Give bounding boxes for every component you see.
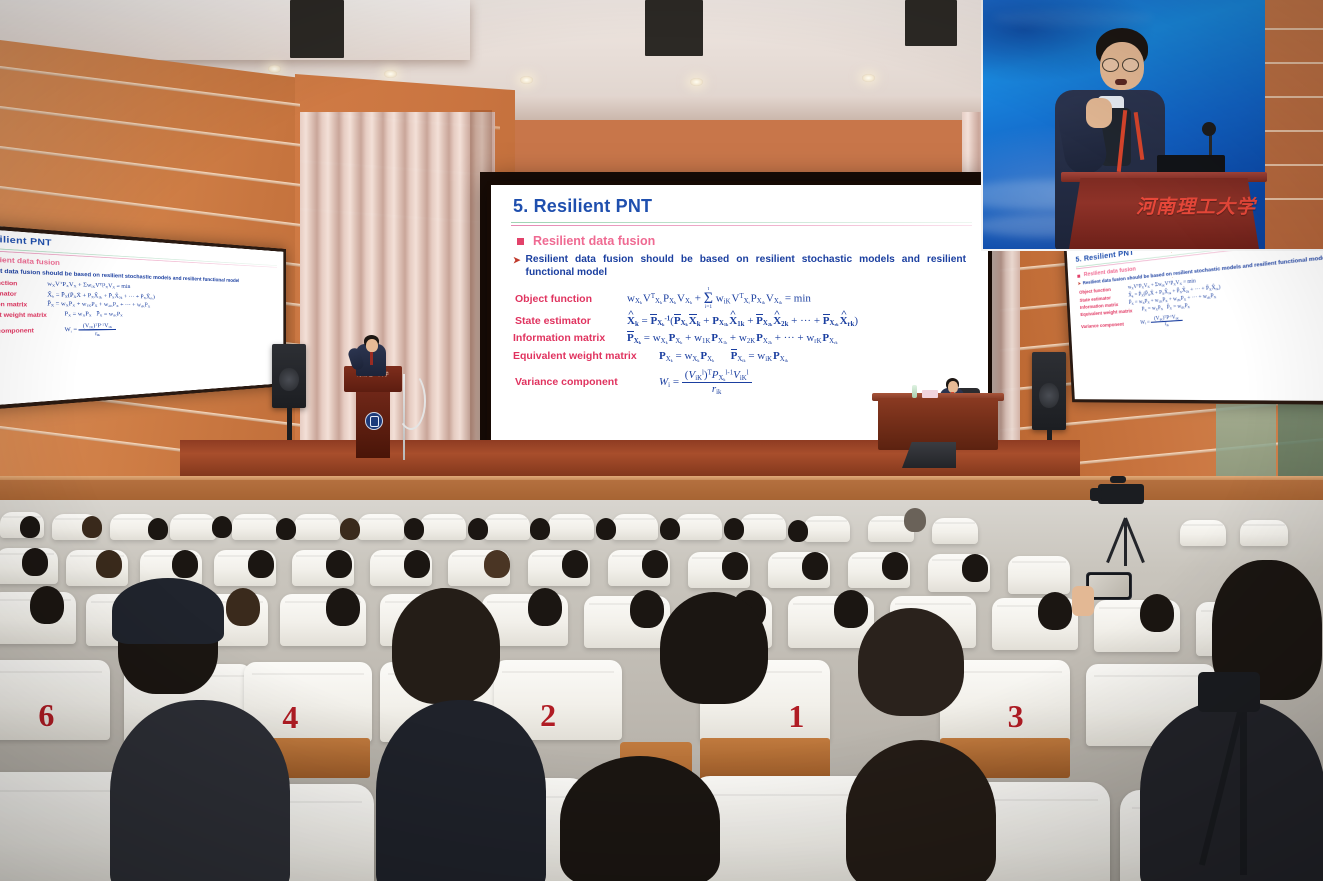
cap-on-head bbox=[112, 578, 224, 644]
hand-holding-phone bbox=[1072, 586, 1094, 616]
pip-speaker-hand bbox=[1086, 98, 1112, 128]
audience-head bbox=[962, 554, 988, 582]
formula-expression: P̄X = wXPX + w1KPX + w2KPX + ··· + wrKPX bbox=[47, 301, 150, 309]
statement-text: Resilient data fusion should be based on… bbox=[526, 254, 966, 280]
audience-head bbox=[904, 508, 926, 532]
audience-head bbox=[20, 516, 40, 538]
seat-number: 3 bbox=[1008, 698, 1024, 735]
microphone-head bbox=[1202, 122, 1216, 136]
chair bbox=[804, 516, 850, 542]
ceiling-downlight bbox=[268, 65, 281, 73]
lectern: 河南理工大学 bbox=[344, 366, 402, 458]
chair bbox=[612, 514, 658, 540]
ceiling-downlight bbox=[384, 70, 397, 78]
formula-row: Information matrix PXk = wXk PXk + w1K P… bbox=[513, 332, 976, 345]
formula-expression: PXk = wXk PXk PXik = wiK PXik bbox=[659, 350, 788, 363]
chair bbox=[420, 514, 466, 540]
camcorder-tripod bbox=[1106, 496, 1146, 558]
formula-expression: PX = wXPX P̄X = wiKPX bbox=[65, 311, 123, 318]
audience-head bbox=[562, 550, 588, 578]
formula-expression: PX = wXPX P̄X = wiKPX bbox=[1142, 304, 1191, 313]
audience-shoulders-foreground bbox=[110, 700, 290, 881]
audience-head bbox=[528, 588, 562, 626]
chair bbox=[358, 514, 404, 540]
arrow-bullet-icon: ➤ bbox=[513, 255, 521, 266]
podium-university-name: 河南理工大学 bbox=[1136, 192, 1256, 219]
lecture-hall-photo: 5. Resilient PNT Resilient data fusion ➤… bbox=[0, 0, 1323, 881]
audience-head bbox=[1038, 592, 1072, 630]
formula-label: Information matrix bbox=[513, 332, 627, 344]
audience-head bbox=[248, 550, 274, 578]
presenter-tie bbox=[370, 352, 373, 365]
chair bbox=[932, 518, 978, 544]
formula-label: Information matrix bbox=[0, 300, 47, 308]
audience-head bbox=[148, 518, 168, 540]
audience-head bbox=[724, 518, 744, 540]
formula-row: Equivalent weight matrix PX = wXPX P̄X =… bbox=[0, 310, 279, 318]
glasses-icon bbox=[1122, 58, 1139, 72]
ceiling-downlight bbox=[520, 76, 533, 84]
section-bullet-label: Resilient data fusion bbox=[533, 234, 655, 248]
bullet-square-icon bbox=[517, 238, 524, 245]
left-side-screen: 5. Resilient PNT Resilient data fusion ➤… bbox=[0, 222, 286, 414]
formula-expression: X̂k = P̄X(P̄XX̄ + PXX̂1k + P̄XX̂2k + ···… bbox=[47, 291, 155, 300]
formula-expression: PXk = wXk PXk + w1K PX1k + w2K PX2k + ··… bbox=[627, 332, 838, 345]
formula-expression: wXVTPXVX + ΣwiKVTPXVX = min bbox=[47, 280, 130, 290]
pip-speaker-mouth bbox=[1115, 79, 1127, 85]
audience-head bbox=[882, 552, 908, 580]
microphone-cable bbox=[396, 372, 426, 430]
audience-head bbox=[326, 588, 360, 626]
chair bbox=[1008, 556, 1070, 594]
formula-label: Object function bbox=[0, 278, 47, 287]
audience-head bbox=[660, 518, 680, 540]
audience-head bbox=[172, 550, 198, 578]
slide-section-bullet: Resilient data fusion bbox=[517, 234, 976, 248]
acoustic-panel bbox=[905, 0, 957, 46]
audience-head bbox=[212, 516, 232, 538]
chair bbox=[548, 514, 594, 540]
formula-label: State estimator bbox=[515, 315, 627, 327]
formula-expression: wXk VTXk PXk VXk + tΣi=1 wiK VTXi PXik V… bbox=[627, 287, 811, 311]
formula-label: State estimator bbox=[0, 289, 47, 297]
formula-label: Equivalent weight matrix bbox=[513, 350, 659, 362]
pip-water-texture bbox=[993, 10, 1153, 26]
chair bbox=[484, 514, 530, 540]
chair bbox=[294, 514, 340, 540]
audience-shoulders-foreground bbox=[1140, 700, 1323, 881]
formula-row: Object function wXk VTXk PXk VXk + tΣi=1… bbox=[515, 287, 976, 311]
audience-head bbox=[834, 590, 868, 628]
speaker-video-inset: 河南理工大学 bbox=[981, 0, 1323, 251]
audience-head bbox=[276, 518, 296, 540]
audience-head bbox=[642, 550, 668, 578]
audience-head bbox=[96, 550, 122, 578]
formula-expression: Wi = (ViK)TP-1ViKrik bbox=[65, 322, 117, 339]
chair bbox=[232, 514, 278, 540]
name-card bbox=[922, 390, 938, 398]
audience-head-foreground bbox=[660, 592, 768, 704]
camcorder-icon bbox=[1098, 484, 1144, 504]
audience-head bbox=[404, 550, 430, 578]
section-bullet-label: Resilient data fusion bbox=[0, 256, 60, 268]
audience-head bbox=[722, 552, 748, 580]
glasses-icon bbox=[1102, 58, 1119, 72]
camera-head bbox=[1198, 672, 1260, 712]
audience-head bbox=[1140, 594, 1174, 632]
loudspeaker-stage-right bbox=[1032, 352, 1066, 430]
pip-right-wall bbox=[1265, 0, 1323, 249]
audience-head bbox=[468, 518, 488, 540]
audience-head-foreground bbox=[392, 588, 500, 704]
camera-rig-tripod bbox=[1236, 700, 1246, 880]
university-emblem-icon bbox=[365, 412, 383, 430]
presenter-head bbox=[366, 339, 378, 352]
formula-row: Variance component Wi = (ViK)TP-1ViKrik bbox=[0, 321, 279, 340]
formula-row: State estimator Xk = PXk-1(PXk Xk + PX1k… bbox=[515, 315, 976, 328]
seat-number: 4 bbox=[282, 699, 298, 736]
seat-number: 2 bbox=[540, 697, 556, 734]
audience-head bbox=[82, 516, 102, 538]
formula-label: Variance component bbox=[0, 327, 47, 335]
seat-number: 6 bbox=[38, 697, 54, 734]
chair bbox=[170, 514, 216, 540]
formula-expression: Wi = (ViK)TP-1ViKrik bbox=[1140, 313, 1183, 329]
audience-head bbox=[530, 518, 550, 540]
formula-row: Variance component Wi = (ViKl)TPXkl-1ViK… bbox=[515, 369, 976, 396]
acoustic-panel bbox=[290, 0, 344, 58]
audience-head bbox=[340, 518, 360, 540]
seat-number: 1 bbox=[788, 698, 804, 735]
title-divider-rule bbox=[511, 222, 972, 226]
audience-head bbox=[30, 586, 64, 624]
audience-head bbox=[484, 550, 510, 578]
audience-head bbox=[630, 590, 664, 628]
bullet-square-icon bbox=[1077, 274, 1080, 277]
chair bbox=[1180, 520, 1226, 546]
phone-screen bbox=[1089, 575, 1129, 597]
chair: 6 bbox=[0, 660, 110, 740]
audience-head bbox=[326, 550, 352, 578]
audience-head bbox=[404, 518, 424, 540]
chair bbox=[1240, 520, 1288, 546]
audience-shoulders-foreground bbox=[376, 700, 546, 881]
formula-row: Equivalent weight matrix PXk = wXk PXk P… bbox=[513, 350, 976, 363]
audience-head bbox=[22, 548, 48, 576]
formula-label: Variance component bbox=[1081, 321, 1130, 329]
slide-title: 5. Resilient PNT bbox=[513, 196, 976, 217]
arrow-bullet-icon: ➤ bbox=[1078, 281, 1081, 286]
formula-label: Variance component bbox=[515, 376, 631, 388]
audience-head-front bbox=[846, 740, 996, 881]
audience-head bbox=[596, 518, 616, 540]
slide-statement: ➤ Resilient data fusion should be based … bbox=[513, 254, 966, 280]
audience-head-front bbox=[560, 756, 720, 881]
audience-head bbox=[788, 520, 808, 542]
audience-head bbox=[802, 552, 828, 580]
loudspeaker-left bbox=[272, 344, 306, 408]
chair bbox=[676, 514, 722, 540]
ceiling-downlight bbox=[862, 74, 875, 82]
slide-left-mirror: 5. Resilient PNT Resilient data fusion ➤… bbox=[0, 226, 283, 409]
camcorder-mic bbox=[1110, 476, 1126, 483]
formula-label: Equivalent weight matrix bbox=[0, 311, 65, 318]
water-bottle bbox=[912, 385, 917, 398]
formula-expression: Wi = (ViKl)TPXkl-1ViKl rik bbox=[659, 369, 752, 396]
chair bbox=[740, 514, 786, 540]
formula-label: Object function bbox=[515, 293, 627, 305]
audience-head bbox=[226, 588, 260, 626]
audience-head-foreground bbox=[858, 608, 964, 716]
formula-expression: Xk = PXk-1(PXk Xk + PX1k X1k + PX2k X2k … bbox=[627, 315, 858, 328]
camcorder-lens-hood bbox=[1090, 488, 1102, 501]
ceiling-downlight bbox=[690, 78, 703, 86]
acoustic-panel bbox=[645, 0, 703, 56]
